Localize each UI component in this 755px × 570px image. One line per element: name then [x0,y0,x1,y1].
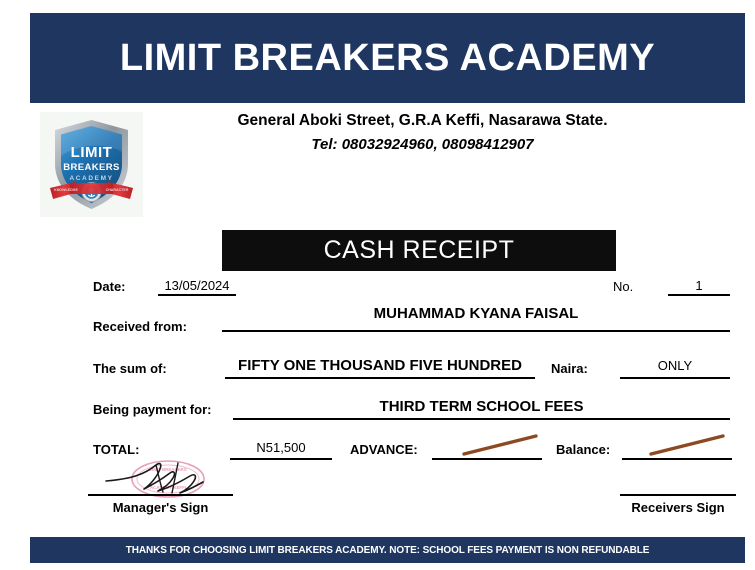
receipt-number-rule [668,294,730,296]
receiver-sign-rule [620,494,736,496]
receiver-sign-label: Receivers Sign [620,500,736,515]
svg-text:LIMIT BREAKERS: LIMIT BREAKERS [149,467,186,472]
svg-text:CHARACTER: CHARACTER [106,188,129,192]
footer-banner: THANKS FOR CHOOSING LIMIT BREAKERS ACADE… [30,537,745,563]
naira-label: Naira: [551,361,588,376]
total-rule [230,458,332,460]
sum-of-value[interactable]: FIFTY ONE THOUSAND FIVE HUNDRED [225,357,535,374]
shield-logo-icon: LIMIT BREAKERS ACADEMY KNOWLEDGE CHARACT… [40,112,143,217]
date-rule [158,294,236,296]
balance-rule [622,458,732,460]
sum-of-label: The sum of: [93,361,167,376]
telephone-line: Tel: 08032924960, 08098412907 [150,134,695,156]
cash-receipt-title: CASH RECEIPT [324,236,515,265]
header-banner: LIMIT BREAKERS ACADEMY [30,13,745,103]
advance-strikethrough-mark [458,432,548,458]
svg-text:BREAKERS: BREAKERS [63,162,120,173]
naira-value[interactable]: ONLY [620,358,730,373]
received-from-label: Received from: [93,319,187,334]
advance-rule [432,458,542,460]
address-line: General Aboki Street, G.R.A Keffi, Nasar… [150,110,695,132]
cash-receipt-title-bar: CASH RECEIPT [222,230,616,271]
receipt-number-label: No. [613,279,633,294]
manager-sign-label: Manager's Sign [88,500,233,515]
academy-logo: LIMIT BREAKERS ACADEMY KNOWLEDGE CHARACT… [40,112,143,217]
balance-label: Balance: [556,442,610,457]
sum-of-rule [225,377,535,379]
svg-text:LIMIT: LIMIT [71,144,113,161]
received-from-value[interactable]: MUHAMMAD KYANA FAISAL [222,305,730,322]
academy-name-title: LIMIT BREAKERS ACADEMY [120,37,655,80]
payment-for-label: Being payment for: [93,402,211,417]
advance-label: ADVANCE: [350,442,418,457]
svg-text:ACADEMY: ACADEMY [69,175,113,182]
payment-for-value[interactable]: THIRD TERM SCHOOL FEES [233,398,730,415]
payment-for-rule [233,418,730,420]
naira-rule [620,377,730,379]
received-from-rule [222,330,730,332]
date-value[interactable]: 13/05/2024 [158,278,236,293]
total-value[interactable]: N51,500 [230,440,332,455]
date-label: Date: [93,279,126,294]
balance-strikethrough-mark [645,432,735,458]
manager-sign-rule [88,494,233,496]
svg-text:KNOWLEDGE: KNOWLEDGE [54,188,78,192]
footer-note: THANKS FOR CHOOSING LIMIT BREAKERS ACADE… [126,545,650,556]
school-address-block: General Aboki Street, G.R.A Keffi, Nasar… [150,110,695,156]
receipt-number-value[interactable]: 1 [668,278,730,293]
